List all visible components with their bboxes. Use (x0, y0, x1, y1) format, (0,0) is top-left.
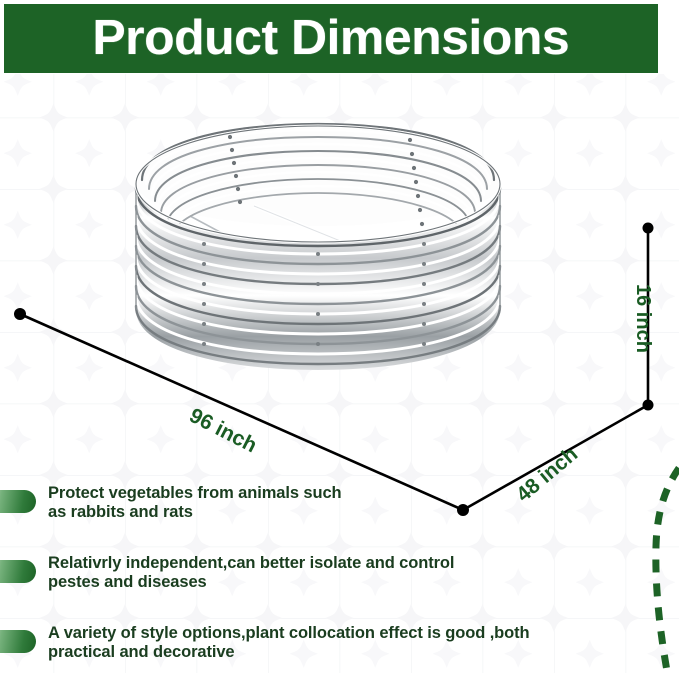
list-item: Relativrly independent,can better isolat… (0, 554, 679, 624)
product-dimensions-infographic: Product Dimensions (0, 0, 679, 673)
feature-text: A variety of style options,plant colloca… (48, 624, 530, 661)
feature-line-2: pestes and diseases (48, 573, 454, 592)
list-item: A variety of style options,plant colloca… (0, 624, 679, 673)
bullet-pill-icon (0, 630, 36, 653)
feature-line-1: Protect vegetables from animals such (48, 484, 342, 503)
list-item: Protect vegetables from animals such as … (0, 484, 679, 554)
feature-line-1: A variety of style options,plant colloca… (48, 624, 530, 643)
bullet-pill-icon (0, 560, 36, 583)
feature-line-1: Relativrly independent,can better isolat… (48, 554, 454, 573)
header-banner: Product Dimensions (4, 4, 658, 73)
feature-list: Protect vegetables from animals such as … (0, 484, 679, 673)
product-illustration-oval-raised-garden-bed (18, 88, 628, 508)
feature-line-2: as rabbits and rats (48, 503, 342, 522)
feature-text: Relativrly independent,can better isolat… (48, 554, 454, 591)
bullet-pill-icon (0, 490, 36, 513)
feature-text: Protect vegetables from animals such as … (48, 484, 342, 521)
feature-line-2: practical and decorative (48, 643, 530, 662)
page-title: Product Dimensions (93, 14, 570, 63)
dimension-label-height: 16 inch (631, 284, 654, 353)
